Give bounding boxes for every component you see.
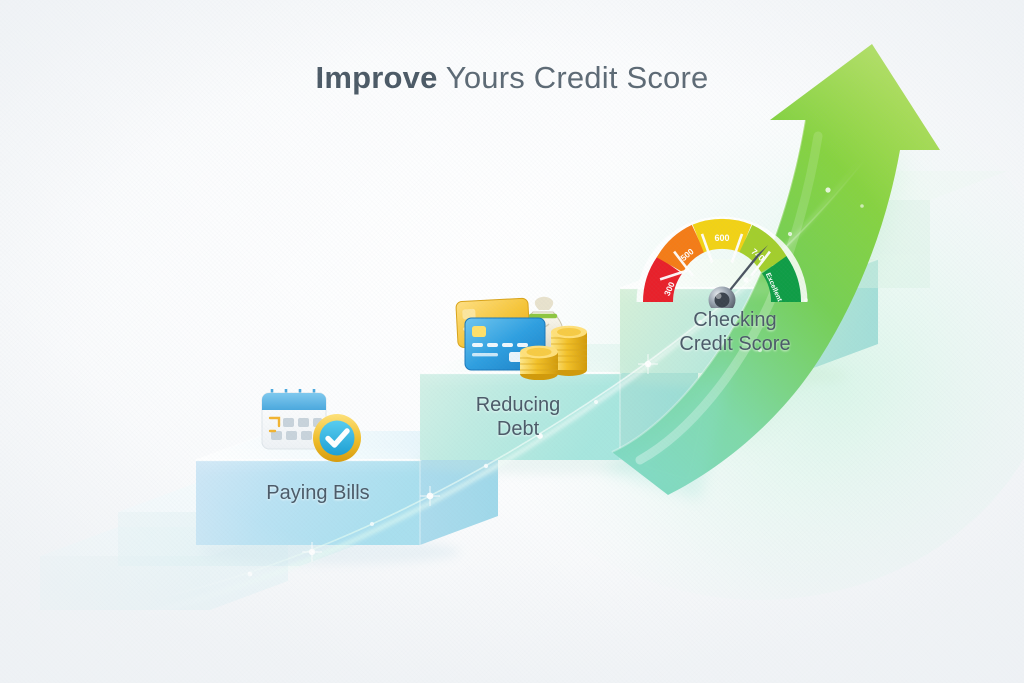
credit-score-gauge-icon[interactable]: 300 500 600 740 Excellent (636, 214, 808, 308)
calendar-check-icon (249, 386, 365, 466)
gauge-label-600: 600 (714, 233, 729, 243)
credit-cards-money-icon (443, 288, 603, 380)
title-rest: Yours Credit Score (438, 60, 709, 95)
illustration-canvas: Improve Yours Credit Score Paying Bills … (0, 0, 1024, 683)
page-title: Improve Yours Credit Score (0, 60, 1024, 96)
gauge-needle (709, 245, 769, 308)
title-bold-word: Improve (316, 60, 438, 95)
